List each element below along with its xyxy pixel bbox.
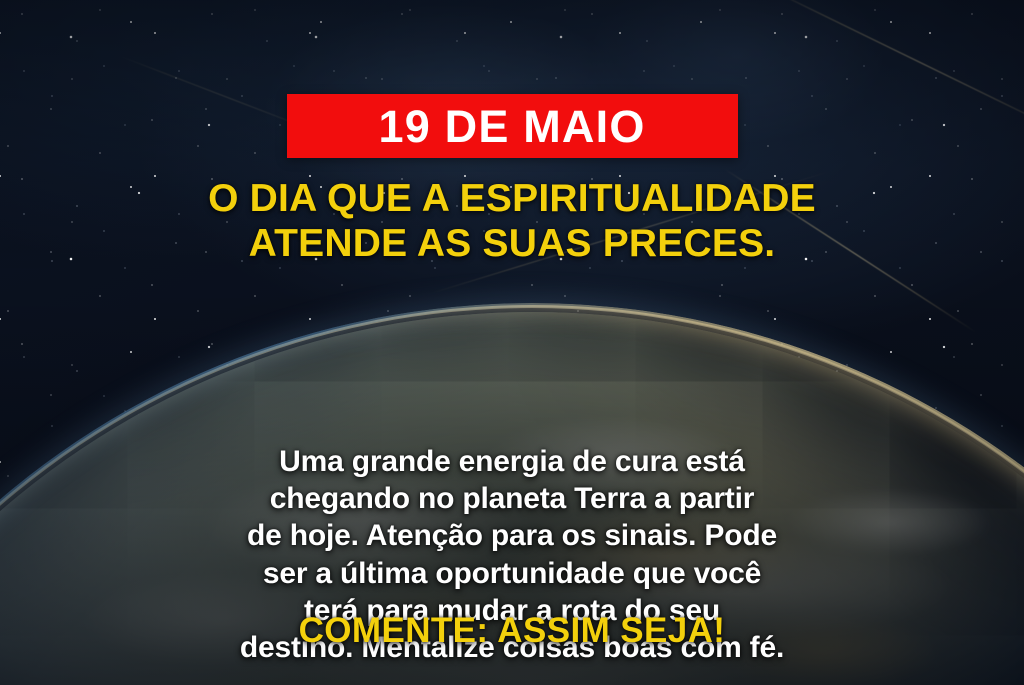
call-to-action-text: COMENTE: ASSIM SEJA! (0, 613, 1024, 648)
poster-canvas: 19 DE MAIO O DIA QUE A ESPIRITUALIDADE A… (0, 0, 1024, 685)
date-banner-text: 19 DE MAIO (378, 104, 645, 149)
poster-content: 19 DE MAIO O DIA QUE A ESPIRITUALIDADE A… (0, 0, 1024, 685)
headline-text: O DIA QUE A ESPIRITUALIDADE ATENDE AS SU… (168, 176, 856, 266)
date-banner: 19 DE MAIO (287, 94, 738, 158)
